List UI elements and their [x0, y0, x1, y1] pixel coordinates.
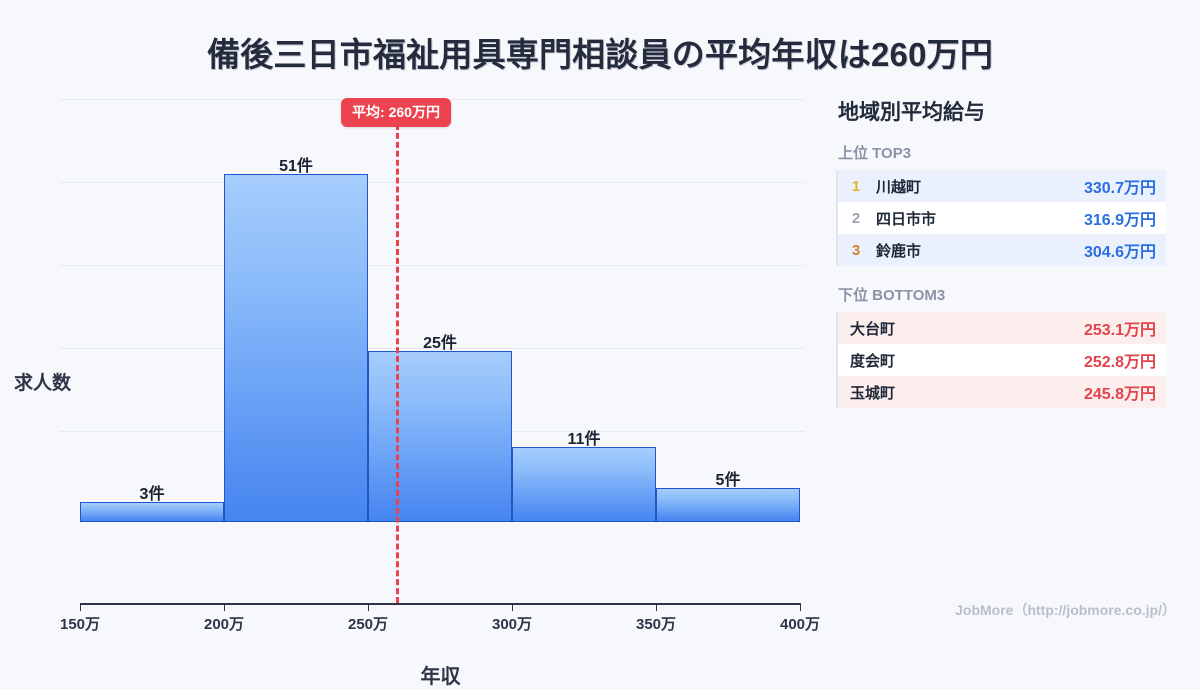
bar-bin-5[interactable]: [656, 488, 800, 522]
region-name: 玉城町: [846, 382, 1084, 403]
x-tick-label: 200万: [204, 613, 244, 634]
bar-value-label: 51件: [279, 152, 313, 176]
x-tick-mark: [800, 603, 801, 611]
x-tick-mark: [368, 603, 369, 611]
y-axis-title: 求人数: [14, 368, 71, 395]
x-axis-title: 年収: [80, 660, 801, 689]
top3-section-label: 上位 TOP3: [838, 142, 1166, 163]
bar-bin-1[interactable]: [80, 502, 224, 522]
table-row[interactable]: 3 鈴鹿市 304.6万円: [838, 234, 1166, 266]
region-name: 四日市市: [866, 208, 1084, 229]
x-tick-label: 150万: [60, 613, 100, 634]
bottom3-section-label: 下位 BOTTOM3: [838, 284, 1166, 305]
table-row[interactable]: 1 川越町 330.7万円: [838, 170, 1166, 202]
bar-value-label: 3件: [140, 480, 165, 504]
region-salary: 245.8万円: [1084, 380, 1156, 404]
region-salary: 304.6万円: [1084, 238, 1156, 262]
region-name: 川越町: [866, 176, 1084, 197]
top3-table: 1 川越町 330.7万円 2 四日市市 316.9万円 3 鈴鹿市 304.6…: [836, 170, 1166, 266]
sidebar-title: 地域別平均給与: [838, 96, 1166, 126]
regional-salary-panel: 地域別平均給与 上位 TOP3 1 川越町 330.7万円 2 四日市市 316…: [836, 96, 1166, 426]
bottom3-table: 大台町 253.1万円 度会町 252.8万円 玉城町 245.8万円: [836, 312, 1166, 408]
gridline: [60, 265, 805, 266]
region-salary: 316.9万円: [1084, 206, 1156, 230]
x-axis-line: [80, 603, 801, 605]
table-row[interactable]: 2 四日市市 316.9万円: [838, 202, 1166, 234]
x-tick-label: 400万: [780, 613, 820, 634]
page-title: 備後三日市福祉用具専門相談員の平均年収は260万円: [0, 28, 1200, 76]
average-line: [396, 124, 399, 603]
rank-number: 2: [846, 210, 866, 227]
plot-area: 3件 51件 25件 11件 5件: [80, 99, 800, 522]
x-tick-label: 350万: [636, 613, 676, 634]
x-tick-label: 300万: [492, 613, 532, 634]
average-badge: 平均: 260万円: [341, 98, 451, 127]
region-name: 大台町: [846, 318, 1084, 339]
x-tick-mark: [512, 603, 513, 611]
x-tick-mark: [80, 603, 81, 611]
region-name: 鈴鹿市: [866, 240, 1084, 261]
histogram-chart: 3件 51件 25件 11件 5件 平均: 260万円 150万 200万 25…: [0, 90, 830, 600]
bar-bin-3[interactable]: [368, 351, 512, 522]
table-row[interactable]: 玉城町 245.8万円: [838, 376, 1166, 408]
region-name: 度会町: [846, 350, 1084, 371]
region-salary: 252.8万円: [1084, 348, 1156, 372]
region-salary: 253.1万円: [1084, 316, 1156, 340]
bar-bin-4[interactable]: [512, 447, 656, 522]
rank-number: 1: [846, 178, 866, 195]
bar-value-label: 11件: [568, 425, 601, 449]
x-tick-mark: [224, 603, 225, 611]
gridline: [60, 182, 805, 183]
bar-value-label: 5件: [716, 466, 741, 490]
x-tick-label: 250万: [348, 613, 388, 634]
rank-number: 3: [846, 242, 866, 259]
x-tick-mark: [656, 603, 657, 611]
footer-credit: JobMore（http://jobmore.co.jp/）: [955, 600, 1176, 620]
table-row[interactable]: 大台町 253.1万円: [838, 312, 1166, 344]
table-row[interactable]: 度会町 252.8万円: [838, 344, 1166, 376]
bar-bin-2[interactable]: [224, 174, 368, 522]
region-salary: 330.7万円: [1084, 174, 1156, 198]
bar-value-label: 25件: [423, 329, 457, 353]
